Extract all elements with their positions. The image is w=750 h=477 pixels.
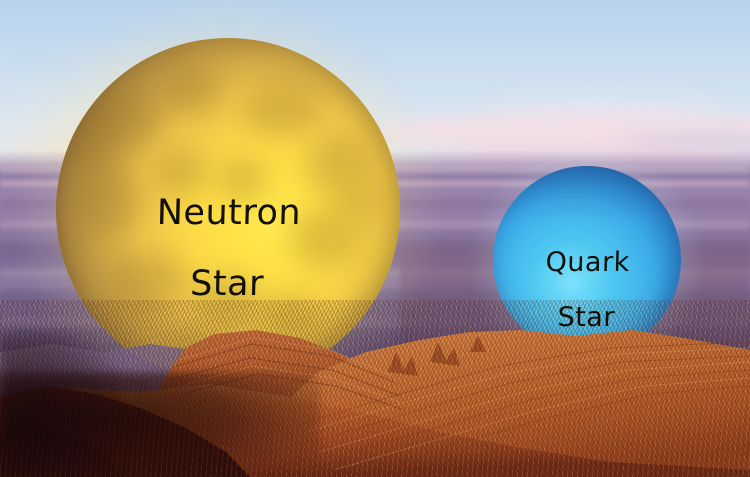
neutron-star-label: Neutron Star — [86, 160, 371, 338]
neutron-star-label-line2: Star — [87, 267, 368, 303]
quark-star-label: Quark Star — [505, 221, 669, 359]
quark-star-label-line2: Star — [506, 304, 667, 332]
quark-star-label-line1: Quark — [507, 249, 668, 277]
neutron-star-label-line1: Neutron — [88, 196, 369, 232]
scene-comparison-image: Neutron Star Quark Star — [0, 0, 750, 477]
